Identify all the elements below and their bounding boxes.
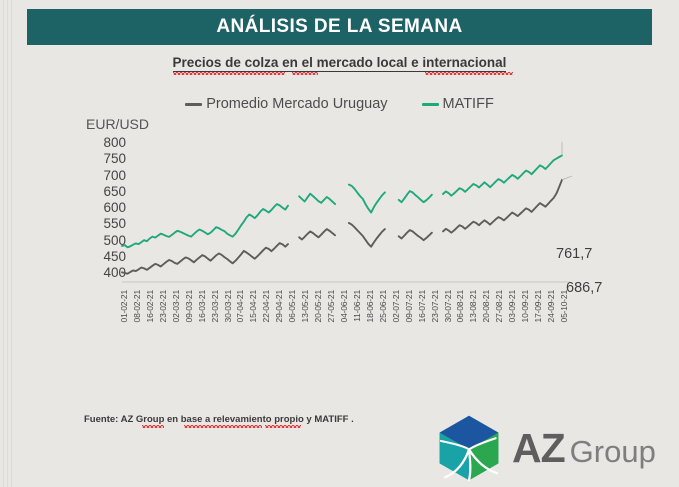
- chart-subtitle-text: Precios de colza en el mercado local e i…: [173, 55, 507, 70]
- x-axis-tick: 22-04-21: [261, 290, 271, 322]
- legend-item-matiff[interactable]: MATIFF: [422, 96, 494, 112]
- x-axis-tick: 07-04-21: [235, 290, 245, 322]
- legend-item-uruguay[interactable]: Promedio Mercado Uruguay: [185, 96, 387, 112]
- spellcheck-underline-1: [173, 72, 285, 75]
- x-axis-tick: 09-07-21: [404, 290, 414, 322]
- legend-swatch-uruguay: [185, 103, 202, 106]
- legend-label-uruguay: Promedio Mercado Uruguay: [206, 96, 387, 112]
- x-axis-tick: 06-08-21: [455, 290, 465, 322]
- x-axis-tick: 18-06-21: [365, 290, 375, 322]
- x-axis-tick: 09-03-21: [184, 290, 194, 322]
- x-axis-tick: 25-06-21: [378, 290, 388, 322]
- x-axis-tick: 27-08-21: [494, 290, 504, 322]
- chart-legend: Promedio Mercado Uruguay MATIFF: [0, 96, 679, 112]
- x-axis-tick: 16-07-21: [417, 290, 427, 322]
- logo-group-text: Group: [570, 436, 656, 467]
- series-line-uruguay: [122, 243, 288, 274]
- x-axis-tick: 30-03-21: [223, 290, 233, 322]
- spellcheck-underline-2: [292, 72, 318, 75]
- banner-title: ANÁLISIS DE LA SEMANA: [216, 16, 462, 38]
- spellcheck-underline-5: [184, 425, 262, 428]
- spellcheck-underline-3: [425, 72, 513, 75]
- end-label-matiff: 761,7: [556, 246, 592, 262]
- series-line-matiff: [443, 155, 562, 195]
- spellcheck-underline-4: [142, 425, 164, 428]
- x-axis-tick-labels: 01-02-2108-02-2116-02-2123-02-2102-03-21…: [0, 288, 679, 358]
- x-axis-tick: 06-05-21: [287, 290, 297, 322]
- x-axis-tick: 10-09-21: [520, 290, 530, 322]
- slide-canvas: ANÁLISIS DE LA SEMANA Precios de colza e…: [0, 0, 679, 487]
- x-axis-tick: 24-09-21: [546, 290, 556, 322]
- series-line-matiff: [299, 194, 335, 204]
- spellcheck-underline-6: [265, 425, 301, 428]
- header-banner: ANÁLISIS DE LA SEMANA: [27, 9, 652, 45]
- x-axis-tick: 11-06-21: [352, 290, 362, 322]
- label-leader-line: [562, 176, 572, 180]
- series-line-uruguay: [349, 223, 385, 247]
- x-axis-tick: 13-05-21: [300, 290, 310, 322]
- x-axis-tick: 16-02-21: [145, 290, 155, 322]
- legend-swatch-matiff: [422, 103, 439, 106]
- legend-label-matiff: MATIFF: [443, 96, 494, 112]
- x-axis-tick: 23-02-21: [158, 290, 168, 322]
- x-axis-tick: 30-07-21: [443, 290, 453, 322]
- x-axis-tick: 01-02-21: [119, 290, 129, 322]
- logo-az-text: AZ: [512, 428, 565, 469]
- source-note-text: Fuente: AZ Group en base a relevamiento …: [84, 414, 354, 425]
- series-lines-svg: [0, 116, 679, 296]
- end-label-uruguay: 686,7: [566, 280, 602, 296]
- chart-plot-area: EUR/USD 800750700650600550500450400 01-0…: [0, 116, 679, 356]
- source-note: Fuente: AZ Group en base a relevamiento …: [84, 414, 354, 425]
- series-line-matiff: [122, 204, 288, 247]
- az-cube-icon: [432, 413, 506, 483]
- x-axis-tick: 20-08-21: [481, 290, 491, 322]
- series-line-uruguay: [299, 229, 335, 239]
- series-line-matiff: [399, 191, 432, 202]
- x-axis-tick: 03-09-21: [507, 290, 517, 322]
- chart-subtitle: Precios de colza en el mercado local e i…: [173, 55, 507, 72]
- x-axis-tick: 16-03-21: [197, 290, 207, 322]
- x-axis-tick: 23-07-21: [430, 290, 440, 322]
- az-group-logo: AZ Group: [432, 413, 654, 483]
- series-line-matiff: [349, 185, 385, 213]
- x-axis-tick: 23-03-21: [210, 290, 220, 322]
- series-line-uruguay: [399, 230, 432, 240]
- logo-wordmark: AZ Group: [512, 428, 656, 469]
- x-axis-tick: 13-08-21: [468, 290, 478, 322]
- x-axis-tick: 20-05-21: [313, 290, 323, 322]
- x-axis-tick: 15-04-21: [248, 290, 258, 322]
- x-axis-tick: 04-06-21: [339, 290, 349, 322]
- x-axis-tick: 27-05-21: [326, 290, 336, 322]
- x-axis-tick: 02-07-21: [391, 290, 401, 322]
- x-axis-tick: 08-02-21: [132, 290, 142, 322]
- subtitle-container: Precios de colza en el mercado local e i…: [0, 54, 679, 72]
- x-axis-tick: 17-09-21: [533, 290, 543, 322]
- x-axis-tick: 02-03-21: [171, 290, 181, 322]
- x-axis-tick: 29-04-21: [274, 290, 284, 322]
